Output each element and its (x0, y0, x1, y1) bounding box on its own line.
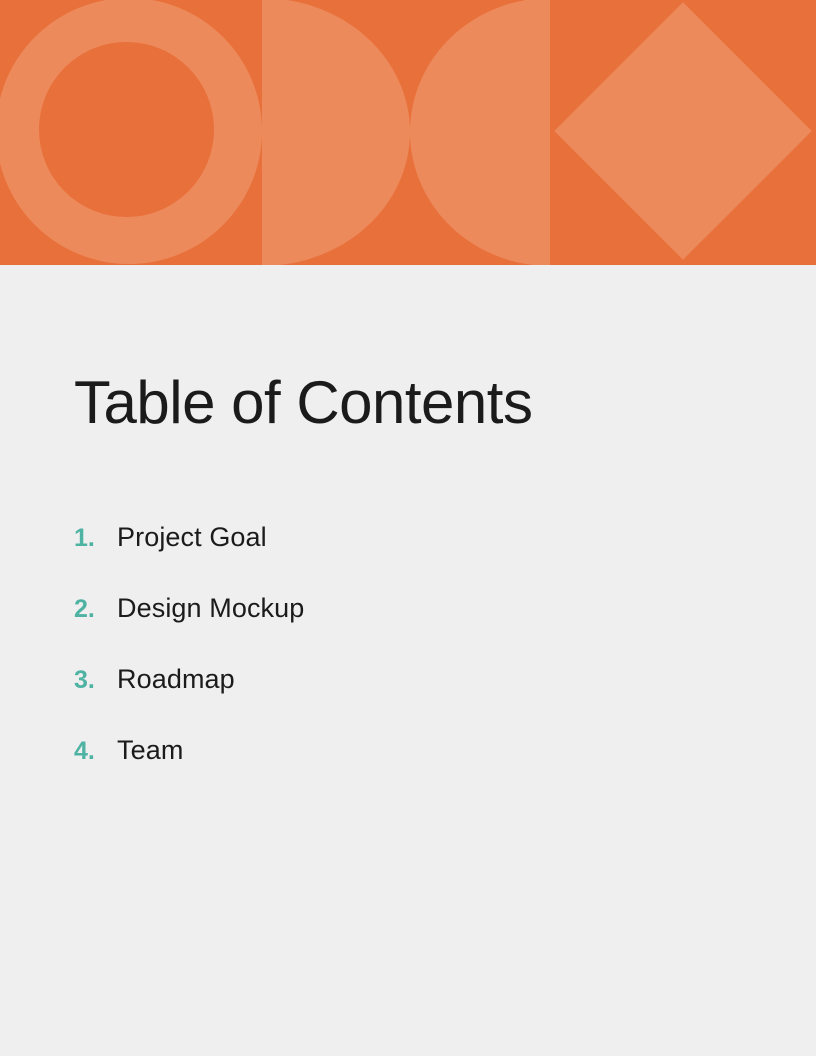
list-item[interactable]: 2. Design Mockup (74, 593, 674, 664)
slide-page: Table of Contents 1. Project Goal 2. Des… (0, 0, 816, 1056)
page-title: Table of Contents (74, 373, 532, 433)
list-item-label: Roadmap (117, 664, 235, 695)
list-item-number: 2. (74, 595, 117, 624)
list-item[interactable]: 1. Project Goal (74, 522, 674, 593)
table-of-contents-list: 1. Project Goal 2. Design Mockup 3. Road… (74, 522, 674, 806)
list-item-number: 3. (74, 666, 117, 695)
diamond-shape-body (554, 2, 811, 259)
list-item[interactable]: 4. Team (74, 735, 674, 806)
ring-shape-icon (0, 0, 262, 264)
list-item-label: Project Goal (117, 522, 267, 553)
half-circle-bulge-left-shape-icon (410, 0, 550, 265)
list-item[interactable]: 3. Roadmap (74, 664, 674, 735)
half-circle-bulge-right-shape-icon (262, 0, 410, 265)
list-item-label: Design Mockup (117, 593, 304, 624)
header-banner (0, 0, 816, 265)
list-item-number: 1. (74, 524, 117, 553)
ring-shape-hole (39, 42, 214, 217)
list-item-number: 4. (74, 737, 117, 766)
slide-content: Table of Contents 1. Project Goal 2. Des… (0, 265, 816, 1056)
list-item-label: Team (117, 735, 183, 766)
